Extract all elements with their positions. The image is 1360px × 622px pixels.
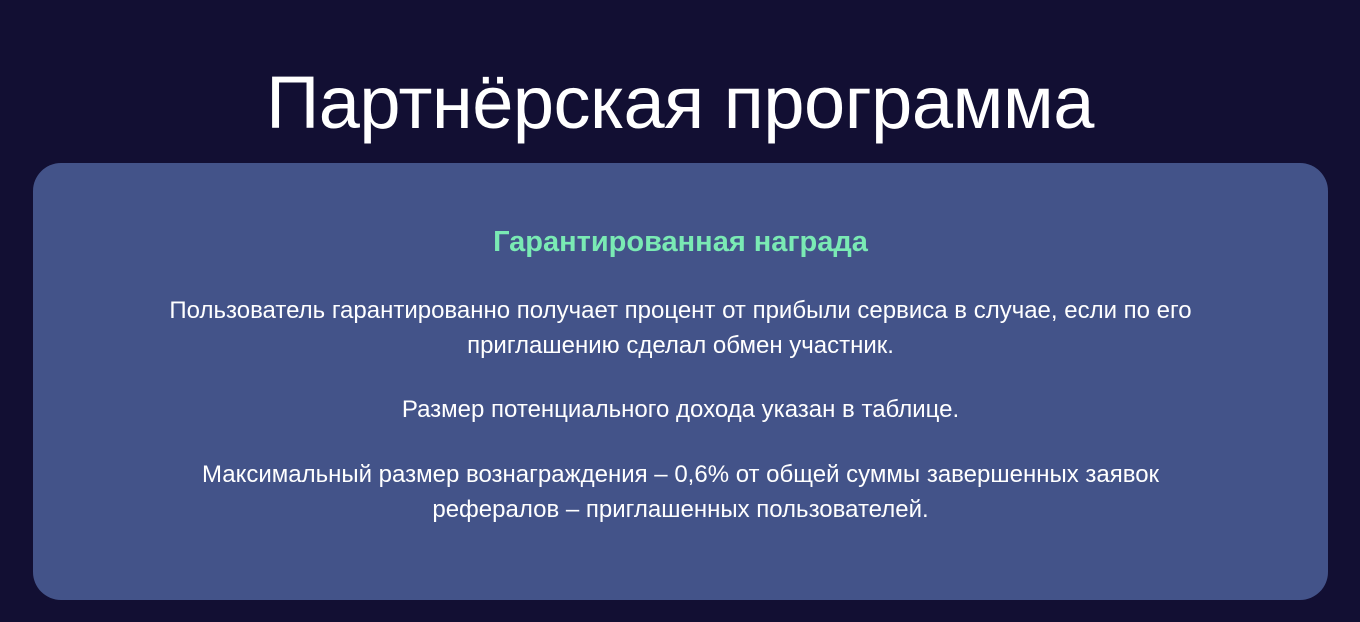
card-paragraph-3: Максимальный размер вознаграждения – 0,6… xyxy=(136,458,1226,528)
card-paragraph-2: Размер потенциального дохода указан в та… xyxy=(181,393,1181,428)
card-paragraph-1: Пользователь гарантированно получает про… xyxy=(123,294,1238,364)
guaranteed-reward-card: Гарантированная награда Пользователь гар… xyxy=(33,163,1328,600)
partner-program-page: Партнёрская программа Гарантированная на… xyxy=(0,0,1360,622)
page-title: Партнёрская программа xyxy=(0,62,1360,145)
card-heading: Гарантированная награда xyxy=(93,225,1268,260)
